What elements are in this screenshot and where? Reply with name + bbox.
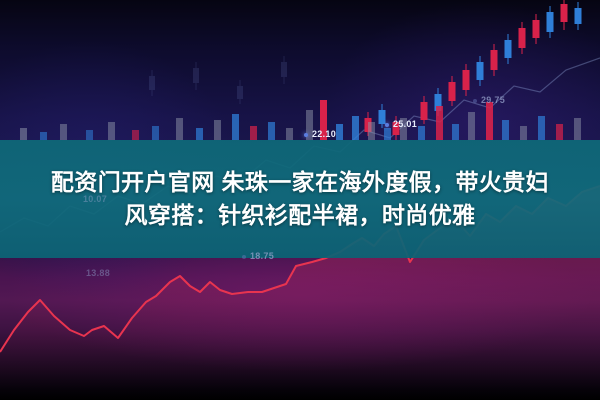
promo-image: 22.10 25.01 29.75 18.75 10.07 13.88 配资门开…: [0, 0, 600, 400]
headline-line-1: 配资门开户官网 朱珠一家在海外度假，带火贵妇: [51, 169, 549, 195]
price-label-2975: 29.75: [481, 95, 505, 105]
candle: [561, 0, 568, 30]
candle: [547, 6, 554, 38]
background-candles: [149, 56, 287, 104]
price-label-1388: 13.88: [86, 268, 110, 278]
candle: [505, 34, 512, 64]
candle: [477, 56, 484, 86]
candle: [463, 64, 470, 96]
candle: [575, 2, 582, 30]
candle: [491, 44, 498, 76]
price-label-2501: 25.01: [393, 119, 417, 129]
candle: [449, 76, 456, 106]
candle: [421, 96, 428, 124]
price-label-1875: 18.75: [250, 251, 274, 261]
candle: [519, 22, 526, 54]
volume-bars: [20, 100, 581, 140]
price-label-2210: 22.10: [312, 129, 336, 139]
price-label-1007: 10.07: [83, 194, 107, 204]
candle: [533, 14, 540, 44]
